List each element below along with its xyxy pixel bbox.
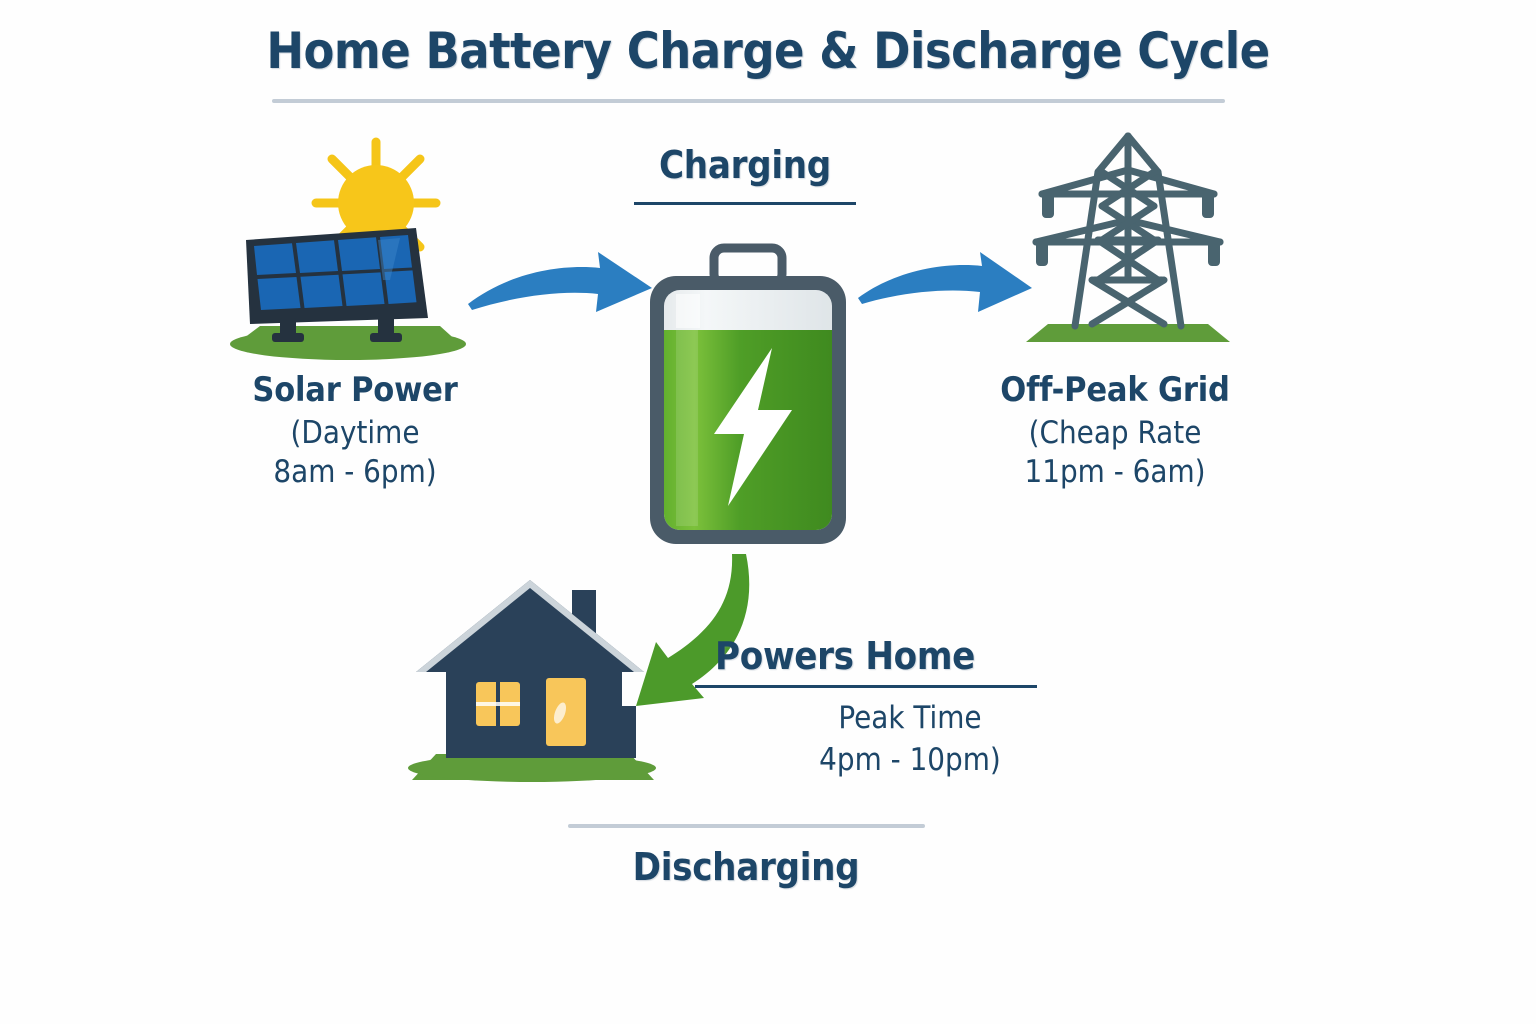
solar-label-line3: 8am - 6pm)	[205, 456, 505, 489]
title-divider	[272, 99, 1225, 103]
powers-home-sub-line2: 4pm - 10pm)	[745, 740, 1075, 782]
solar-label-line1: Solar Power	[205, 372, 505, 408]
powers-home-subtext: Peak Time 4pm - 10pm)	[745, 698, 1075, 782]
infographic-canvas: Home Battery Charge & Discharge Cycle Ch…	[0, 0, 1536, 1024]
solar-label-line2: (Daytime	[205, 417, 505, 450]
off-peak-grid-label: Off-Peak Grid (Cheap Rate 11pm - 6am)	[965, 372, 1265, 489]
solar-power-label: Solar Power (Daytime 8am - 6pm)	[205, 372, 505, 489]
charging-underline	[634, 202, 856, 205]
page-title: Home Battery Charge & Discharge Cycle	[0, 22, 1536, 80]
grid-label-line1: Off-Peak Grid	[965, 372, 1265, 408]
battery-charging-icon	[632, 238, 864, 558]
powers-home-underline	[695, 685, 1037, 688]
solar-to-battery-arrow	[462, 248, 658, 332]
discharging-heading: Discharging	[596, 845, 896, 889]
charging-heading: Charging	[595, 143, 895, 187]
discharging-divider	[568, 824, 925, 828]
solar-panel-with-sun-icon	[228, 128, 496, 360]
transmission-tower-icon	[1012, 128, 1244, 360]
powers-home-heading: Powers Home	[715, 634, 1035, 678]
powers-home-sub-line1: Peak Time	[745, 698, 1075, 740]
grid-label-line2: (Cheap Rate	[965, 417, 1265, 450]
grid-label-line3: 11pm - 6am)	[965, 456, 1265, 489]
battery-to-grid-arrow	[852, 248, 1038, 332]
house-icon	[408, 558, 676, 790]
